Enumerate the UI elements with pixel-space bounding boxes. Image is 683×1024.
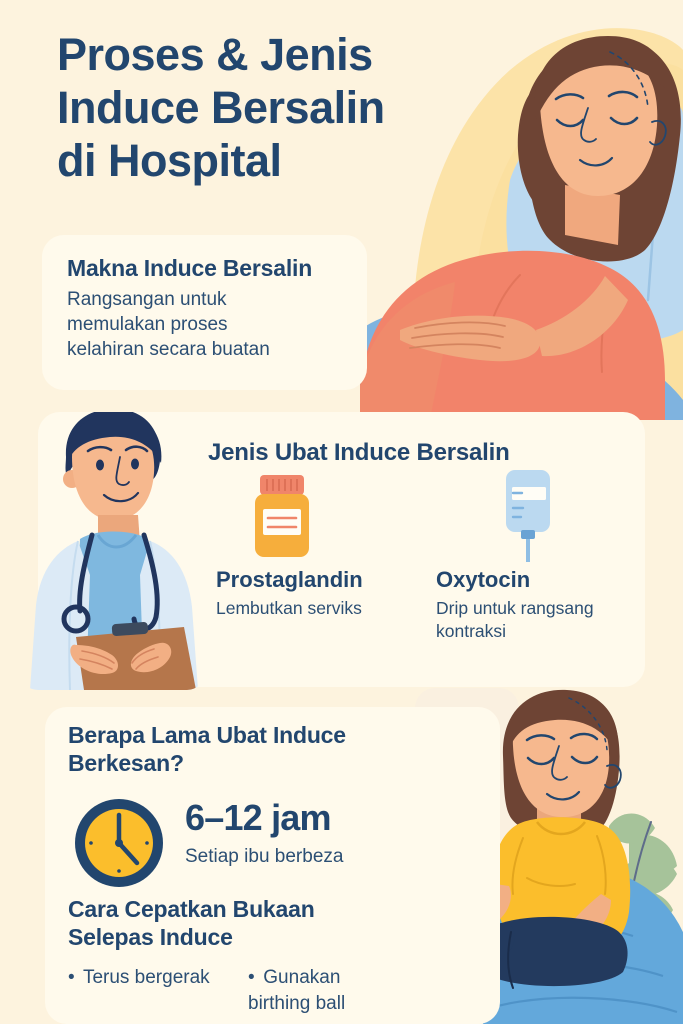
clock-icon [71,795,167,891]
duration-value-group: 6–12 jam Setiap ibu berbeza [185,799,343,869]
page-title: Proses & Jenis Induce Bersalin di Hospit… [57,28,457,187]
card-makna-body-line-3: kelahiran secara buatan [67,337,352,362]
duration-note: Setiap ibu berbeza [185,844,343,869]
medicine-name: Oxytocin [436,567,651,593]
card-makna-induce-bersalin: Makna Induce Bersalin Rangsangan untuk m… [42,235,367,390]
card-cara-cepatkan-heading-line-1: Cara Cepatkan Bukaan [68,895,468,923]
bullet-text: Terus bergerak [83,967,210,988]
infographic-page: Proses & Jenis Induce Bersalin di Hospit… [0,0,683,1024]
card-jenis-ubat: Jenis Ubat Induce Bersalin [38,412,645,687]
card-makna-body-line-1: Rangsangan untuk [67,287,352,312]
duration-value: 6–12 jam [185,799,343,837]
medicine-item-oxytocin: Oxytocin Drip untuk rangsang kontraksi [436,567,651,643]
bullet-marker: • [68,965,78,991]
pill-bottle-icon [251,475,313,557]
bullet-marker: • [248,965,258,991]
medicine-name: Prostaglandin [216,567,431,593]
card-berapa-lama-heading: Berapa Lama Ubat Induce Berkesan? [68,721,468,777]
card-cara-cepatkan-heading-line-2: Selepas Induce [68,923,468,951]
iv-drip-bag-icon [495,470,561,562]
card-makna-heading: Makna Induce Bersalin [67,254,312,282]
list-item: • Gunakan birthing ball [248,965,398,1016]
page-title-line-3: di Hospital [57,134,457,187]
medicine-description: Lembutkan serviks [216,597,431,620]
list-item: • Terus bergerak [68,965,248,991]
card-cara-cepatkan-heading: Cara Cepatkan Bukaan Selepas Induce [68,895,468,951]
page-title-line-2: Induce Bersalin [57,81,457,134]
medicine-item-prostaglandin: Prostaglandin Lembutkan serviks [216,567,431,620]
card-berapa-lama: Berapa Lama Ubat Induce Berkesan? 6–12 j… [45,707,500,1024]
card-berapa-lama-heading-line-2: Berkesan? [68,749,468,777]
medicine-description: Drip untuk rangsang kontraksi [436,597,651,643]
medicine-description-line-1: Drip untuk rangsang [436,597,651,620]
card-makna-body-line-2: memulakan proses [67,312,352,337]
page-title-line-1: Proses & Jenis [57,28,457,81]
card-jenis-ubat-heading: Jenis Ubat Induce Bersalin [208,438,510,467]
medicine-description-line-2: kontraksi [436,620,651,643]
card-makna-body: Rangsangan untuk memulakan proses kelahi… [67,287,352,362]
cara-cepatkan-bullet-list: • Terus bergerak • Gunakan birthing ball [68,965,488,1016]
bullet-text: Gunakan birthing ball [248,967,345,1014]
card-berapa-lama-heading-line-1: Berapa Lama Ubat Induce [68,721,468,749]
